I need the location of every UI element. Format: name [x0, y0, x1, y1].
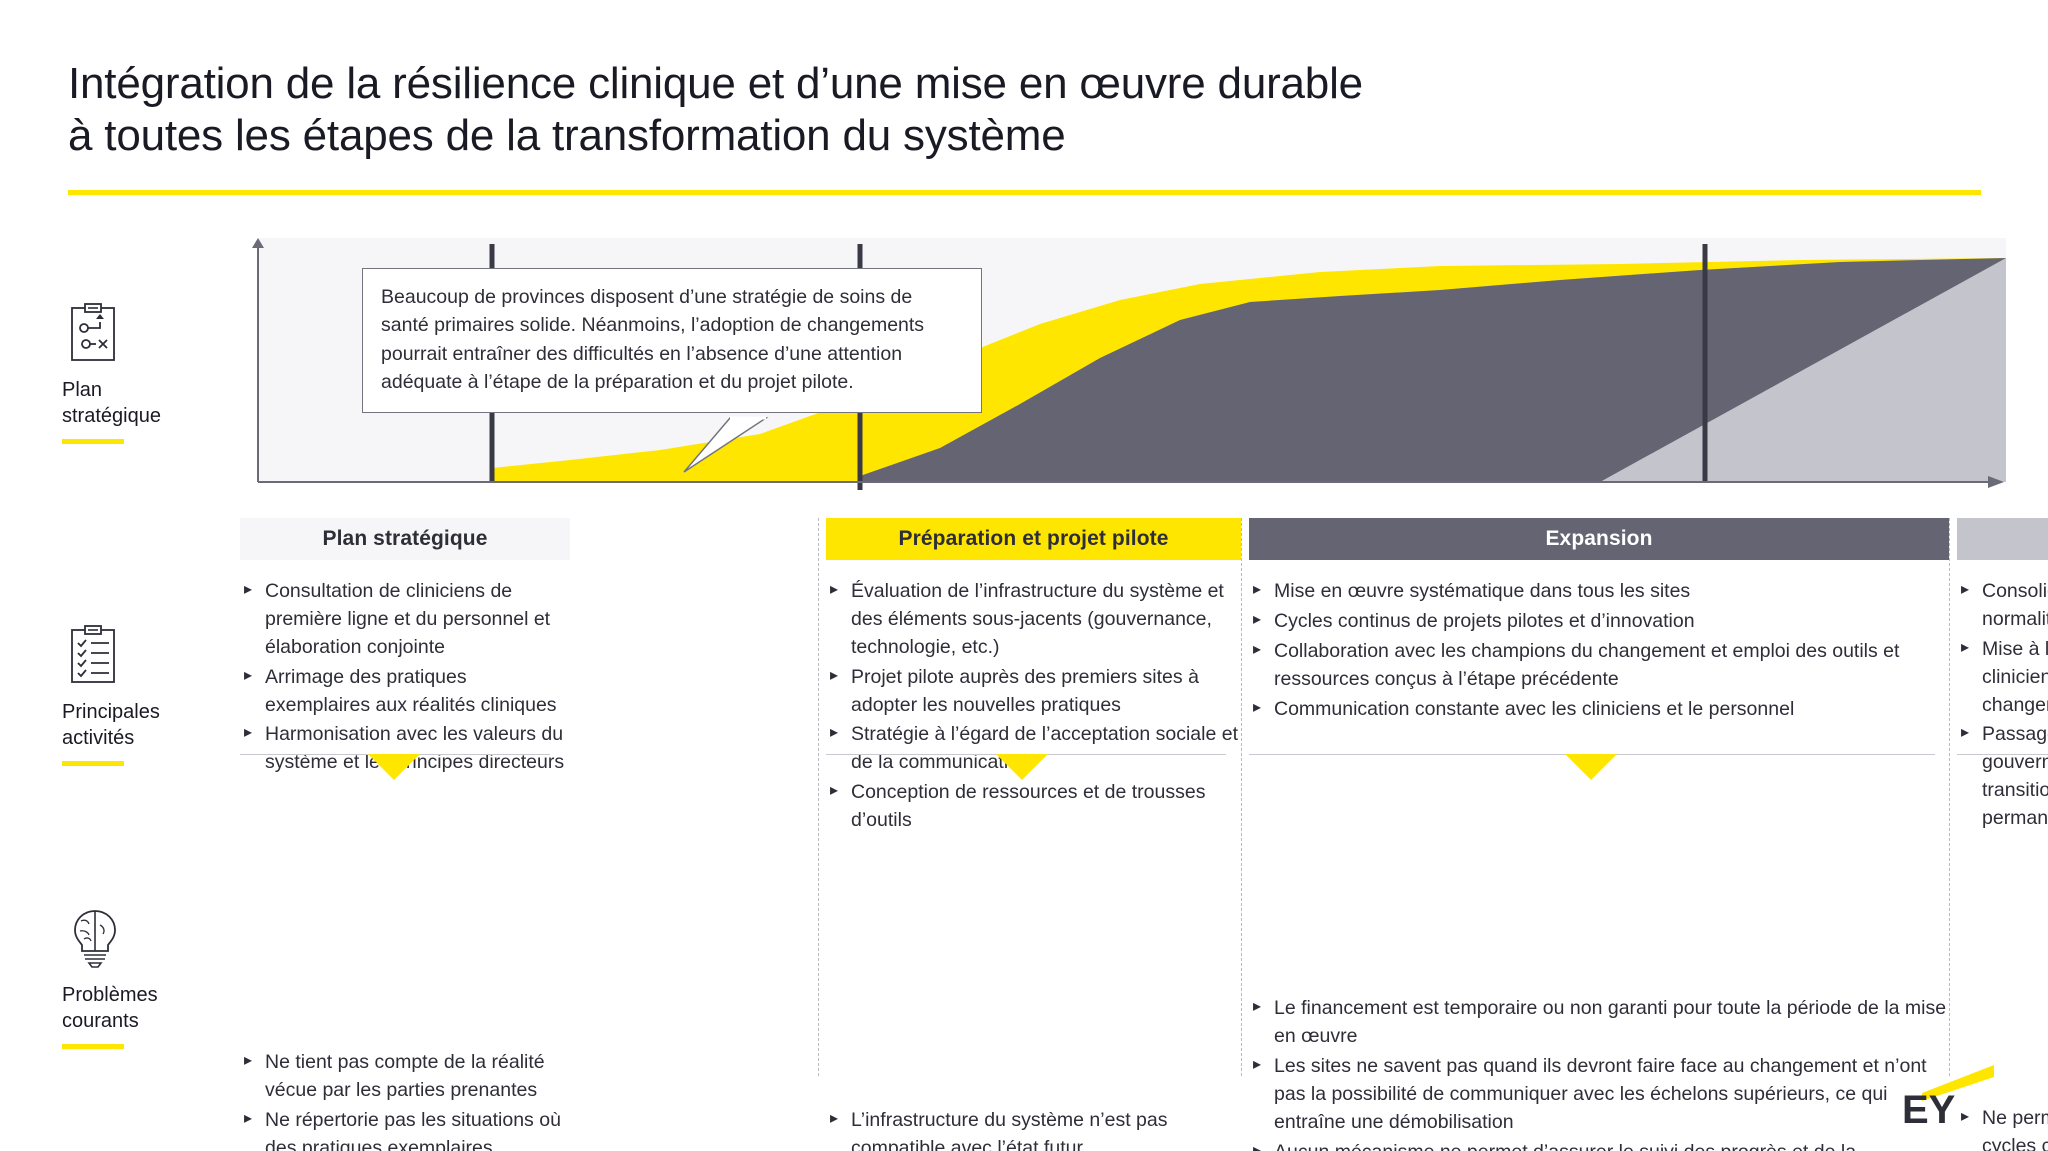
callout-tail: [680, 416, 790, 474]
phase-column-expansion: Expansion Mise en œuvre systématique dan…: [1249, 518, 1949, 1088]
activities-list: Consolidation de la nouvelle normalité M…: [1957, 578, 2048, 833]
rail-label-line-1: Problèmes: [62, 983, 262, 1009]
problems-plan-strategique: Ne tient pas compte de la réalité vécue …: [240, 1029, 570, 1151]
rail-label-line-2: activités: [62, 726, 262, 752]
list-item: Ne répertorie pas les situations où des …: [240, 1107, 570, 1151]
page-title-line-1: Intégration de la résilience clinique et…: [68, 58, 1828, 110]
column-separator-3: [1949, 518, 1950, 1076]
problems-preparation: L’infrastructure du système n’est pas co…: [826, 1087, 1241, 1151]
activities-list: Mise en œuvre systématique dans tous les…: [1249, 578, 1949, 723]
phase-columns: Plan stratégique Consultation de clinici…: [240, 518, 2006, 1088]
phase-column-maintien: Maintien Consolidation de la nouvelle no…: [1957, 518, 2048, 1088]
ey-logo: EY: [1882, 1063, 2000, 1129]
callout-text: Beaucoup de provinces disposent d’une st…: [381, 286, 924, 393]
rail-item-problemes-courants: Problèmes courants: [62, 905, 262, 1049]
list-item: Consolidation de la nouvelle normalité: [1957, 578, 2048, 634]
activities-expansion: Mise en œuvre systématique dans tous les…: [1249, 560, 1949, 723]
activities-maintien: Consolidation de la nouvelle normalité M…: [1957, 560, 2048, 833]
column-separator-1: [818, 518, 819, 1076]
rail-item-label: Plan stratégique: [62, 378, 262, 429]
list-item: Ne tient pas compte de la réalité vécue …: [240, 1049, 570, 1105]
phase-column-plan-strategique: Plan stratégique Consultation de clinici…: [240, 518, 570, 1088]
rail-item-plan-strategique: Plan stratégique: [62, 300, 262, 444]
callout-box: Beaucoup de provinces disposent d’une st…: [362, 268, 982, 413]
list-item: Passage de structures de gouvernance et …: [1957, 721, 2048, 833]
list-item: Conception de ressources et de trousses …: [826, 779, 1241, 835]
list-item: Communication constante avec les clinici…: [1249, 696, 1949, 724]
list-item: L’infrastructure du système n’est pas co…: [826, 1107, 1241, 1151]
rail-underline: [62, 761, 124, 766]
rail-underline: [62, 439, 124, 444]
activities-plan-strategique: Consultation de cliniciens de première l…: [240, 560, 570, 777]
chevron-down-icon: [996, 754, 1048, 780]
clipboard-strategy-icon: [62, 300, 128, 366]
list-item: Projet pilote auprès des premiers sites …: [826, 664, 1241, 720]
activities-list: Évaluation de l’infrastructure du systèm…: [826, 578, 1241, 835]
problems-list: Ne tient pas compte de la réalité vécue …: [240, 1049, 570, 1151]
problems-list: Le financement est temporaire ou non gar…: [1249, 995, 1949, 1151]
list-item: Le financement est temporaire ou non gar…: [1249, 995, 1949, 1051]
slide-root: Intégration de la résilience clinique et…: [0, 0, 2048, 1151]
column-separator-2: [1241, 518, 1242, 1076]
lightbulb-brain-icon: [62, 905, 128, 971]
problems-expansion: Le financement est temporaire ou non gar…: [1249, 975, 1949, 1151]
phase-header-plan-strategique[interactable]: Plan stratégique: [240, 518, 570, 560]
chevron-down-icon: [1565, 754, 1617, 780]
list-item: Mise à l’écart progressive des clinicien…: [1957, 636, 2048, 720]
phase-column-preparation-projet-pilote: Préparation et projet pilote Évaluation …: [826, 518, 1241, 1088]
activities-list: Consultation de cliniciens de première l…: [240, 578, 570, 777]
rail-item-principales-activites: Principales activités: [62, 622, 262, 766]
column-divider: [1957, 754, 2048, 755]
list-item: Arrimage des pratiques exemplaires aux r…: [240, 664, 570, 720]
rail-label-line-2: courants: [62, 1009, 262, 1035]
rail-item-label: Problèmes courants: [62, 983, 262, 1034]
rail-label-line-1: Plan: [62, 378, 262, 404]
clipboard-checklist-icon: [62, 622, 128, 688]
list-item: Collaboration avec les champions du chan…: [1249, 638, 1949, 694]
page-title-line-2: à toutes les étapes de la transformation…: [68, 110, 1828, 162]
phase-header-preparation-projet-pilote[interactable]: Préparation et projet pilote: [826, 518, 1241, 560]
rail-item-label: Principales activités: [62, 700, 262, 751]
list-item: Les sites ne savent pas quand ils devron…: [1249, 1053, 1949, 1137]
list-item: Aucun mécanisme ne permet d’assurer le s…: [1249, 1139, 1949, 1151]
problems-list: L’infrastructure du système n’est pas co…: [826, 1107, 1241, 1151]
phase-header-maintien[interactable]: Maintien: [1957, 518, 2048, 560]
rail-underline: [62, 1044, 124, 1049]
title-underline-rule: [68, 190, 1981, 195]
list-item: Consultation de cliniciens de première l…: [240, 578, 570, 662]
page-title: Intégration de la résilience clinique et…: [68, 58, 1828, 162]
list-item: Mise en œuvre systématique dans tous les…: [1249, 578, 1949, 606]
phase-header-expansion[interactable]: Expansion: [1249, 518, 1949, 560]
ey-logo-text: EY: [1902, 1088, 1956, 1129]
list-item: Évaluation de l’infrastructure du systèm…: [826, 578, 1241, 662]
rail-label-line-2: stratégique: [62, 404, 262, 430]
rail-label-line-1: Principales: [62, 700, 262, 726]
list-item: Cycles continus de projets pilotes et d’…: [1249, 608, 1949, 636]
activities-preparation: Évaluation de l’infrastructure du systèm…: [826, 560, 1241, 835]
chevron-down-icon: [368, 754, 420, 780]
